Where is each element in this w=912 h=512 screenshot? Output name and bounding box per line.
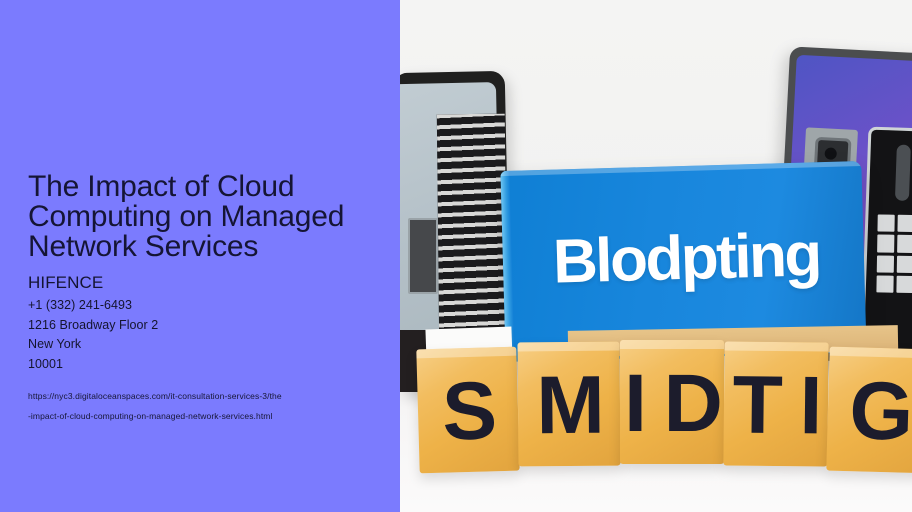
contact-postal-code: 10001 — [28, 355, 380, 375]
letter-block-row: S M I D T I G — [418, 340, 912, 474]
block-top-face — [517, 342, 619, 352]
blue-sign-label: Blodpting — [552, 224, 820, 293]
keypad-key — [877, 214, 895, 232]
hero-photo: Blodpting S M I D T I — [400, 0, 912, 512]
letter-block: S — [416, 347, 519, 474]
letter-block: M — [517, 342, 620, 467]
block-top-face — [416, 347, 516, 359]
keypad-key — [897, 255, 912, 273]
source-url-line-2: -impact-of-cloud-computing-on-managed-ne… — [28, 406, 380, 426]
letter-block-face: M — [536, 365, 602, 448]
letter-block-face: T I — [732, 365, 820, 448]
brand-name: HIFENCE — [28, 272, 380, 293]
keypad-key — [897, 235, 912, 253]
contact-phone[interactable]: +1 (332) 241-6493 — [28, 296, 380, 316]
source-url[interactable]: https://nyc3.digitaloceanspaces.com/it-c… — [28, 386, 380, 426]
block-top-face — [725, 341, 829, 351]
left-info-panel: The Impact of Cloud Computing on Managed… — [0, 0, 400, 512]
keypad-key — [898, 215, 912, 233]
article-preview-card: The Impact of Cloud Computing on Managed… — [0, 0, 912, 512]
keypad-key — [877, 235, 895, 253]
contact-city: New York — [28, 335, 380, 355]
letter-block-face: S — [441, 370, 495, 453]
letter-block: T I — [723, 341, 828, 466]
letter-block: G — [826, 347, 912, 474]
keypad-key — [897, 276, 912, 294]
letter-block: I D — [620, 340, 724, 464]
source-url-line-1: https://nyc3.digitaloceanspaces.com/it-c… — [28, 386, 380, 406]
block-top-face — [620, 340, 724, 349]
letter-block-face: I D — [624, 363, 720, 445]
keypad-key — [876, 275, 894, 293]
vent-grille — [437, 114, 507, 345]
letter-block-face: G — [848, 370, 911, 454]
contact-street: 1216 Broadway Floor 2 — [28, 316, 380, 336]
chip-module — [408, 218, 438, 294]
phone-speaker — [895, 145, 911, 201]
block-top-face — [830, 347, 912, 359]
phone-keypad — [876, 214, 912, 293]
left-panel-content: The Impact of Cloud Computing on Managed… — [28, 172, 380, 426]
keypad-key — [877, 255, 895, 273]
page-title: The Impact of Cloud Computing on Managed… — [28, 172, 380, 262]
